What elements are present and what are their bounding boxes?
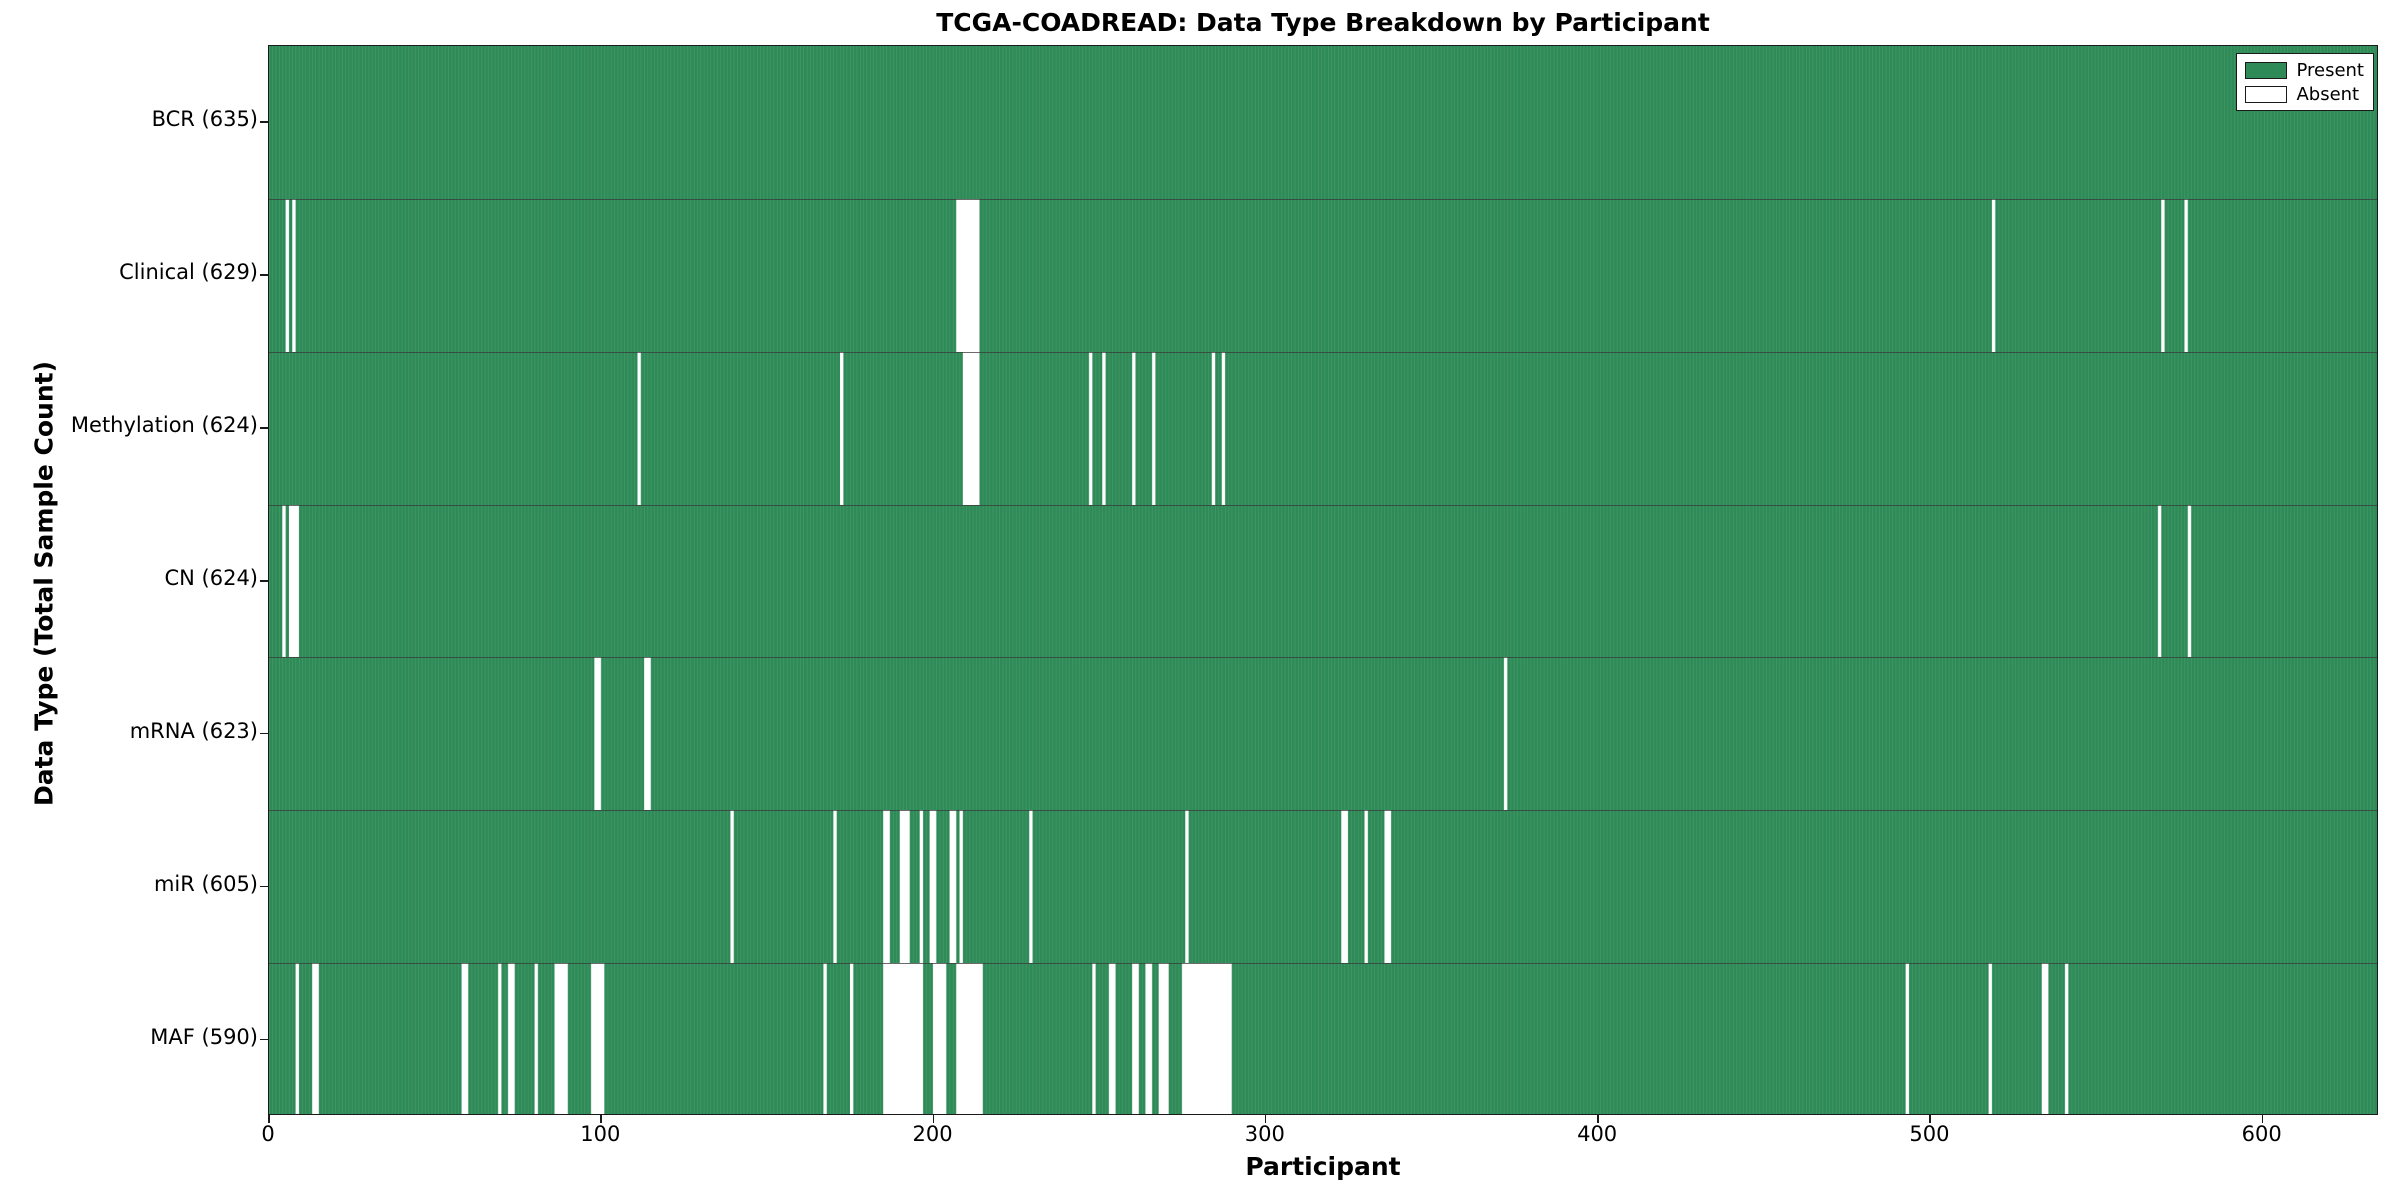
x-tick-label-500: 500 (1869, 1122, 1989, 1146)
x-tick-mark (1597, 1115, 1599, 1123)
heatmap-row-cells (269, 199, 2377, 352)
y-tick-mark (260, 733, 268, 735)
legend-swatch-present (2245, 62, 2287, 79)
x-axis-label: Participant (268, 1152, 2378, 1181)
y-tick-label-methylation: Methylation (624) (0, 413, 258, 437)
x-tick-label-0: 0 (208, 1122, 328, 1146)
legend-item-absent[interactable]: Absent (2245, 84, 2364, 104)
legend-label-absent: Absent (2296, 84, 2359, 105)
x-tick-label-300: 300 (1205, 1122, 1325, 1146)
x-tick-label-100: 100 (540, 1122, 660, 1146)
heatmap-row-cells (269, 505, 2377, 658)
y-tick-mark (260, 427, 268, 429)
x-tick-mark (268, 1115, 270, 1123)
heatmap-row-methylation (269, 352, 2377, 505)
page-title: TCGA-COADREAD: Data Type Breakdown by Pa… (268, 8, 2378, 37)
heatmap-row-clinical (269, 199, 2377, 352)
x-tick-mark (2262, 1115, 2264, 1123)
heatmap-row-cells (269, 657, 2377, 810)
x-tick-mark (1265, 1115, 1267, 1123)
figure-canvas: TCGA-COADREAD: Data Type Breakdown by Pa… (0, 0, 2400, 1200)
y-tick-mark (260, 274, 268, 276)
x-tick-mark (933, 1115, 935, 1123)
y-tick-label-mir: miR (605) (0, 872, 258, 896)
legend-label-present: Present (2296, 60, 2364, 81)
y-tick-mark (260, 886, 268, 888)
row-separator (269, 657, 2377, 658)
x-tick-label-600: 600 (2202, 1122, 2322, 1146)
y-tick-label-cn: CN (624) (0, 566, 258, 590)
heatmap-row-maf (269, 963, 2377, 1115)
heatmap-row-mir (269, 810, 2377, 963)
heatmap-plot-area (268, 45, 2378, 1115)
x-tick-mark (600, 1115, 602, 1123)
y-tick-label-maf: MAF (590) (0, 1025, 258, 1049)
heatmap-row-mrna (269, 657, 2377, 810)
heatmap-row-cells (269, 46, 2377, 199)
x-tick-label-400: 400 (1537, 1122, 1657, 1146)
heatmap-row-cells (269, 810, 2377, 963)
y-tick-mark (260, 1039, 268, 1041)
legend[interactable]: PresentAbsent (2236, 53, 2374, 111)
legend-item-present[interactable]: Present (2245, 60, 2364, 80)
heatmap-row-cells (269, 352, 2377, 505)
row-separator (269, 199, 2377, 200)
heatmap-row-cells (269, 963, 2377, 1115)
row-separator (269, 963, 2377, 964)
y-tick-label-bcr: BCR (635) (0, 107, 258, 131)
y-tick-label-clinical: Clinical (629) (0, 260, 258, 284)
heatmap-row-bcr (269, 46, 2377, 199)
row-separator (269, 810, 2377, 811)
y-tick-label-mrna: mRNA (623) (0, 719, 258, 743)
heatmap-row-cn (269, 505, 2377, 658)
y-tick-mark (260, 121, 268, 123)
x-tick-mark (1929, 1115, 1931, 1123)
y-tick-mark (260, 580, 268, 582)
row-separator (269, 505, 2377, 506)
legend-swatch-absent (2245, 86, 2287, 103)
row-separator (269, 352, 2377, 353)
x-tick-label-200: 200 (873, 1122, 993, 1146)
